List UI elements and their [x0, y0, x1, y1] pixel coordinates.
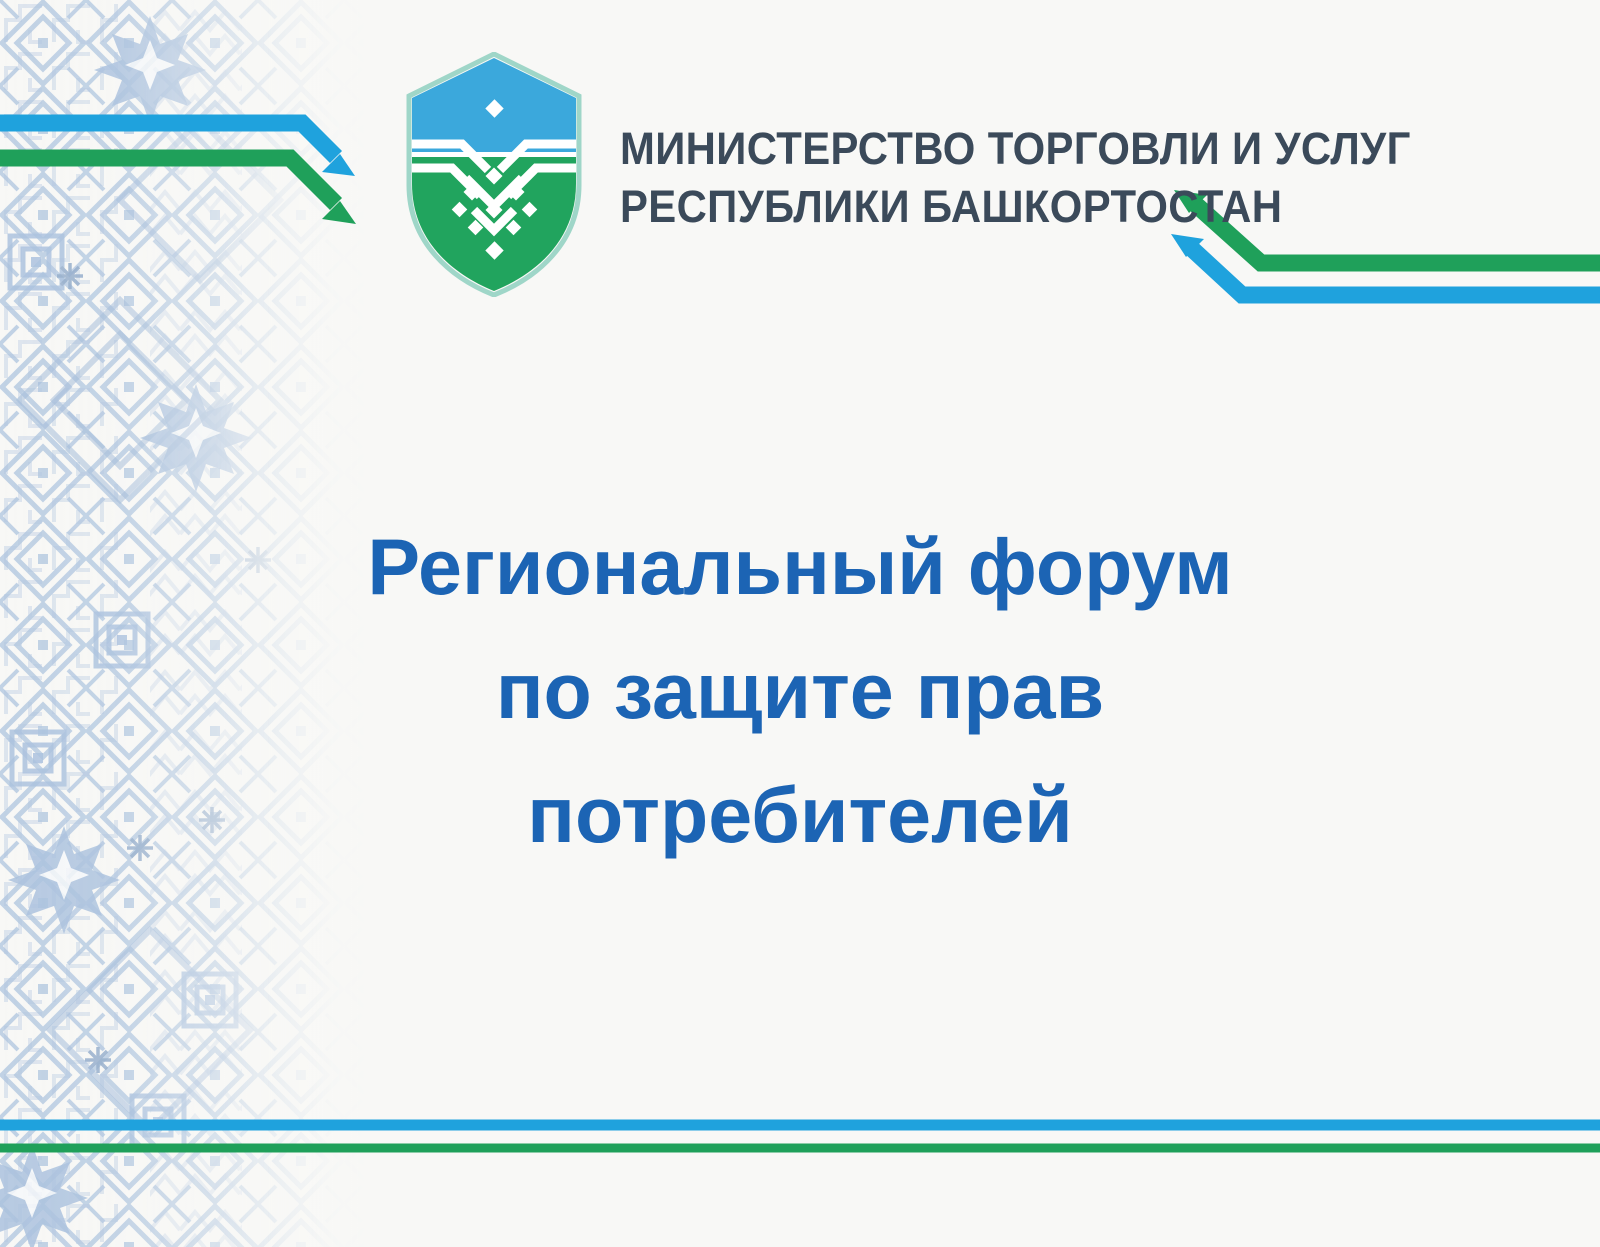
ministry-name-line-1: МИНИСТЕРСТВО ТОРГОВЛИ И УСЛУГ: [620, 120, 1411, 178]
blue-arrow-icon: [0, 123, 355, 176]
ministry-name-line-2: РЕСПУБЛИКИ БАШКОРТОСТАН: [620, 178, 1411, 236]
slide-title-line-3: потребителей: [300, 753, 1300, 877]
bashkortostan-ministry-shield-emblem-icon: [404, 52, 584, 297]
presentation-slide: МИНИСТЕРСТВО ТОРГОВЛИ И УСЛУГ РЕСПУБЛИКИ…: [0, 0, 1600, 1247]
slide-title: Региональный форум по защите прав потреб…: [300, 505, 1300, 877]
green-arrow-icon: [0, 158, 356, 224]
ministry-wordmark: МИНИСТЕРСТВО ТОРГОВЛИ И УСЛУГ РЕСПУБЛИКИ…: [620, 120, 1470, 236]
slide-title-line-1: Региональный форум: [300, 505, 1300, 629]
ministry-logo-block: МИНИСТЕРСТВО ТОРГОВЛИ И УСЛУГ РЕСПУБЛИКИ…: [404, 52, 1470, 297]
top-left-arrow-decoration: [0, 110, 380, 225]
bottom-rules-decoration: [0, 1100, 1600, 1190]
slide-title-line-2: по защите прав: [300, 629, 1300, 753]
